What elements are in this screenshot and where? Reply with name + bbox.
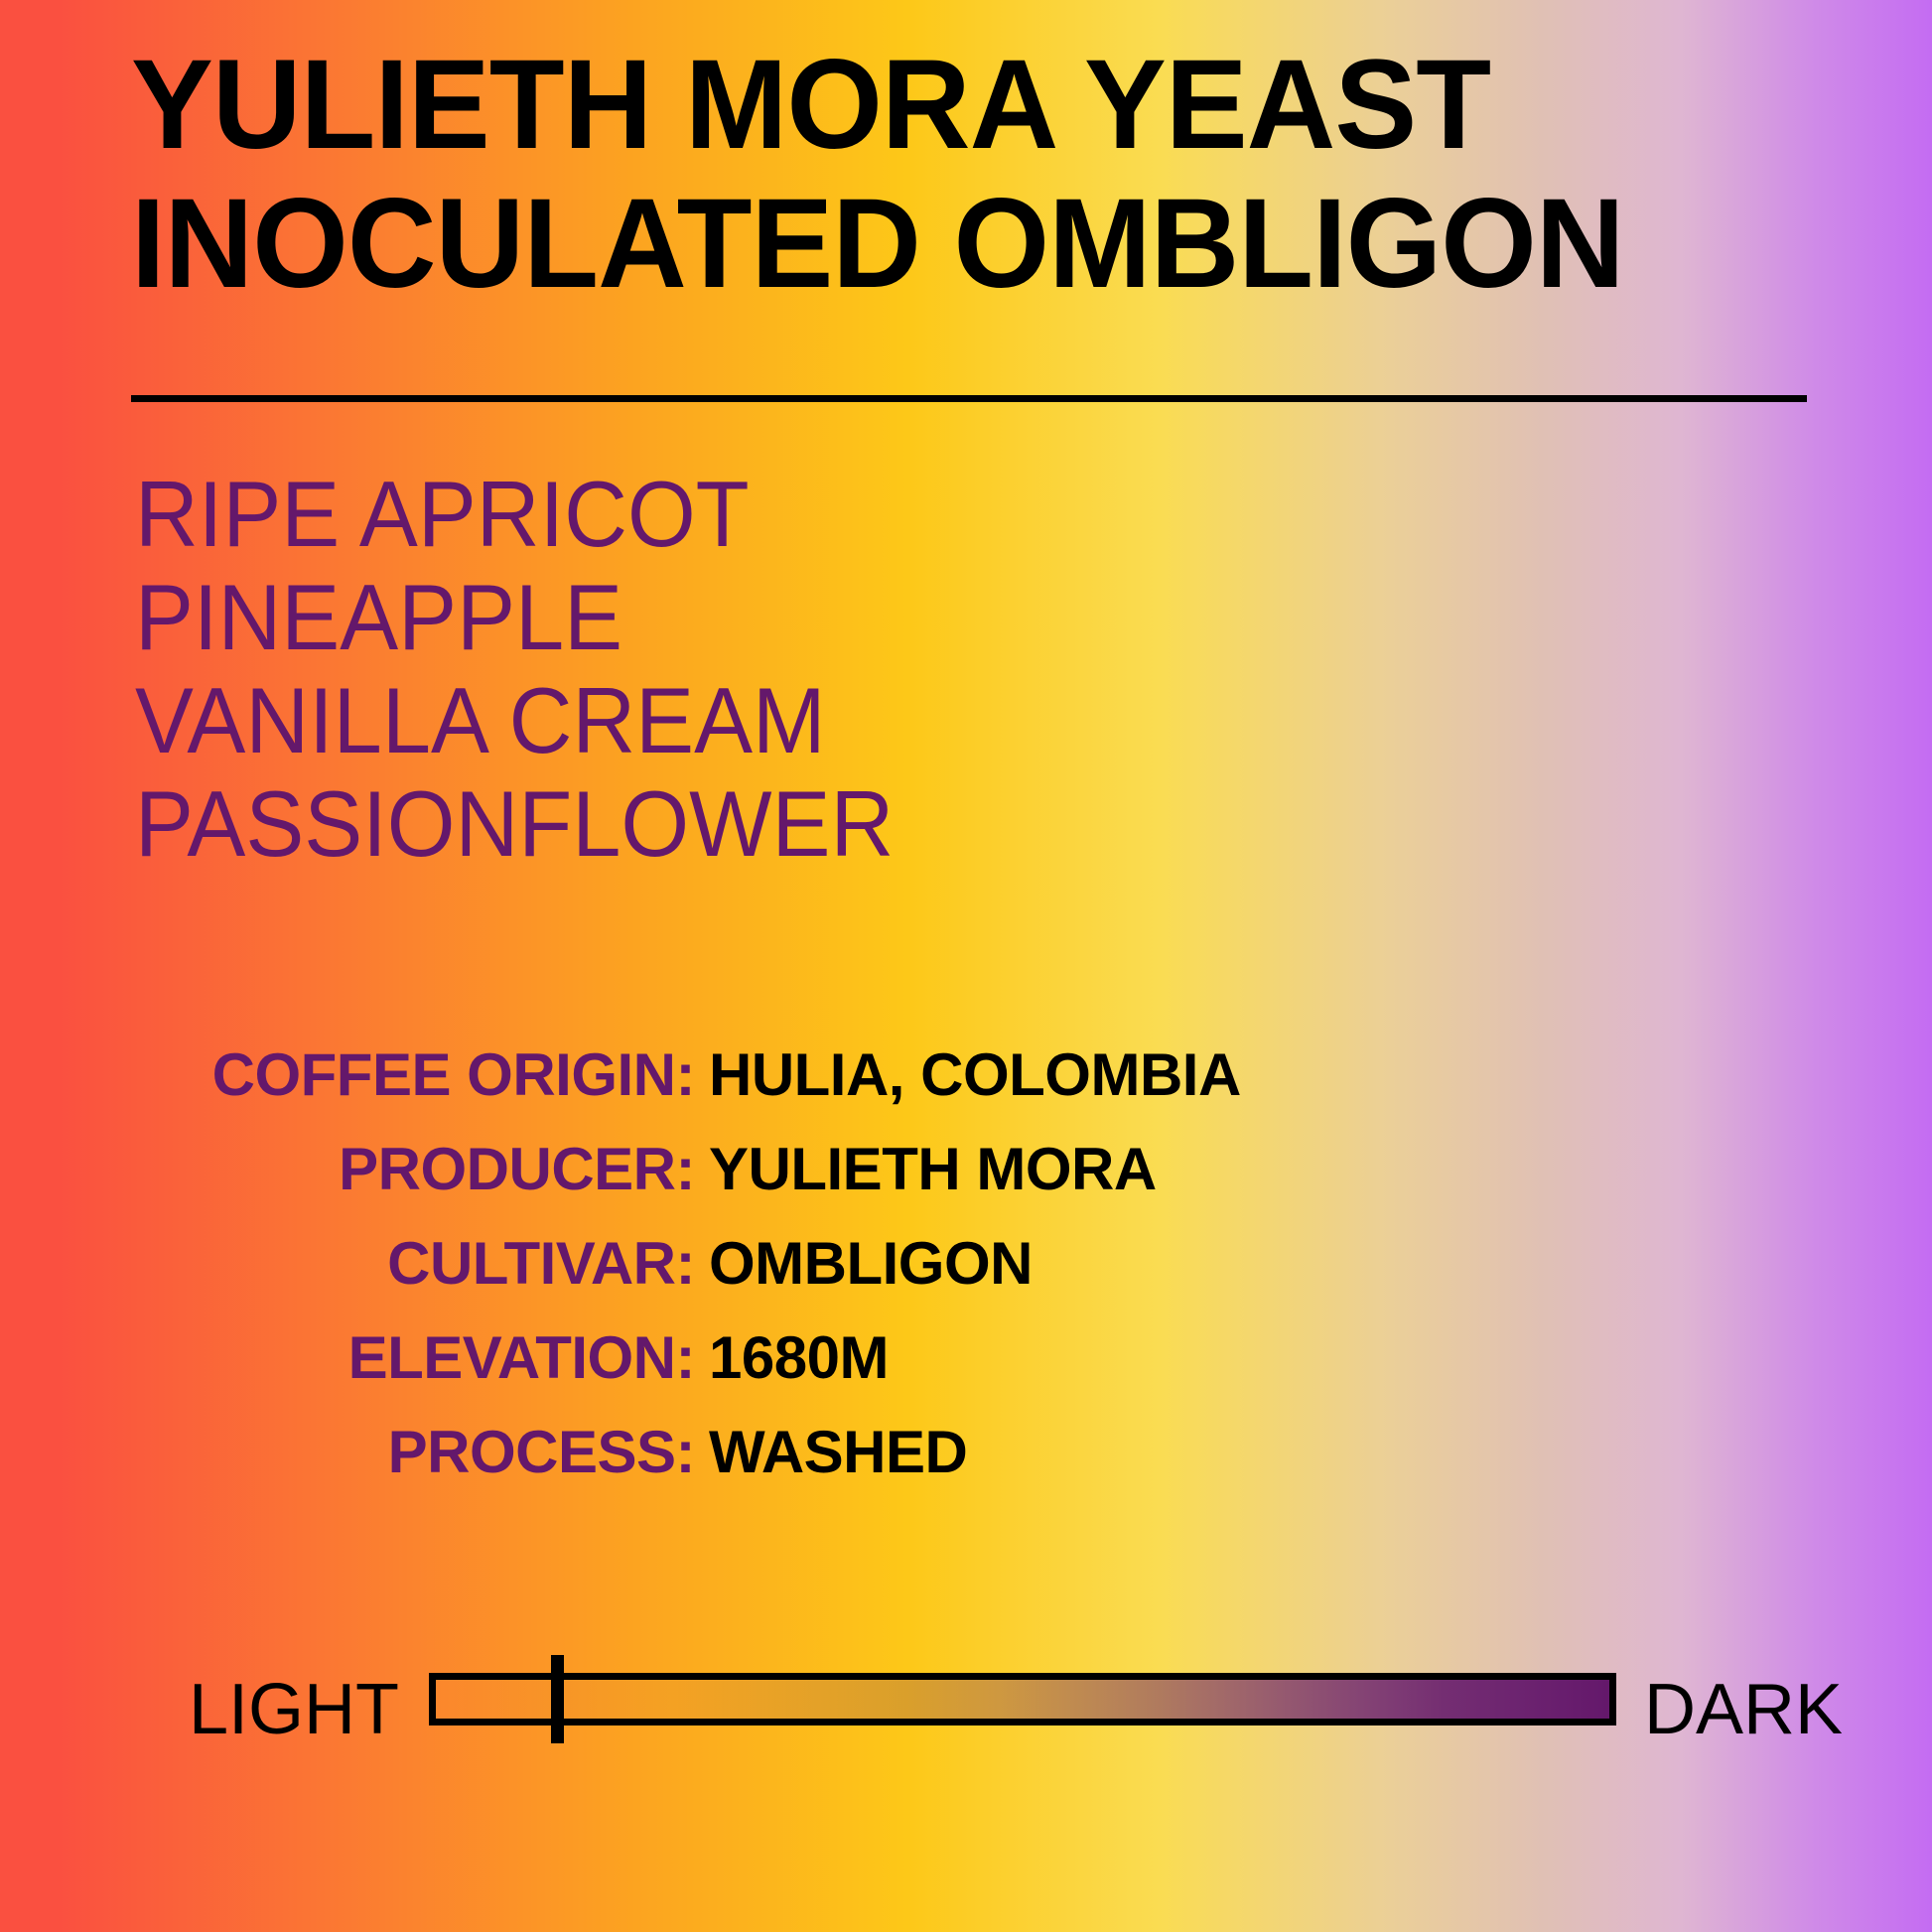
roast-level-scale: LIGHT DARK — [189, 1648, 1797, 1757]
coffee-details-table: COFFEE ORIGIN: HULIA, COLOMBIA PRODUCER:… — [119, 1042, 1509, 1514]
detail-value-coffee-origin: HULIA, COLOMBIA — [709, 1042, 1241, 1108]
detail-row-cultivar: CULTIVAR: OMBLIGON — [119, 1231, 1509, 1312]
tasting-note-item: PASSIONFLOWER — [135, 772, 1255, 876]
roast-level-bar — [429, 1673, 1616, 1725]
detail-value-process: WASHED — [709, 1420, 967, 1485]
detail-value-cultivar: OMBLIGON — [709, 1231, 1033, 1297]
title-line-2: INOCULATED OMBLIGON — [131, 181, 1758, 308]
detail-label-coffee-origin: COFFEE ORIGIN: — [119, 1042, 695, 1108]
detail-row-elevation: ELEVATION: 1680M — [119, 1325, 1509, 1407]
detail-row-coffee-origin: COFFEE ORIGIN: HULIA, COLOMBIA — [119, 1042, 1509, 1124]
roast-dark-label: DARK — [1644, 1674, 1843, 1745]
title-divider — [131, 395, 1807, 402]
detail-label-elevation: ELEVATION: — [119, 1325, 695, 1391]
roast-light-label: LIGHT — [189, 1674, 399, 1745]
roast-level-marker — [551, 1655, 564, 1743]
tasting-notes-list: RIPE APRICOT PINEAPPLE VANILLA CREAM PAS… — [135, 463, 1326, 876]
tasting-note-item: VANILLA CREAM — [135, 669, 1255, 772]
detail-value-elevation: 1680M — [709, 1325, 889, 1391]
coffee-label-card: YULIETH MORA YEAST INOCULATED OMBLIGON R… — [0, 0, 1932, 1932]
detail-label-cultivar: CULTIVAR: — [119, 1231, 695, 1297]
tasting-note-item: PINEAPPLE — [135, 566, 1255, 669]
detail-label-process: PROCESS: — [119, 1420, 695, 1485]
detail-row-process: PROCESS: WASHED — [119, 1420, 1509, 1501]
tasting-note-item: RIPE APRICOT — [135, 463, 1255, 566]
detail-row-producer: PRODUCER: YULIETH MORA — [119, 1137, 1509, 1218]
title-line-1: YULIETH MORA YEAST — [131, 42, 1758, 169]
product-title: YULIETH MORA YEAST INOCULATED OMBLIGON — [131, 42, 1809, 320]
detail-value-producer: YULIETH MORA — [709, 1137, 1157, 1202]
detail-label-producer: PRODUCER: — [119, 1137, 695, 1202]
